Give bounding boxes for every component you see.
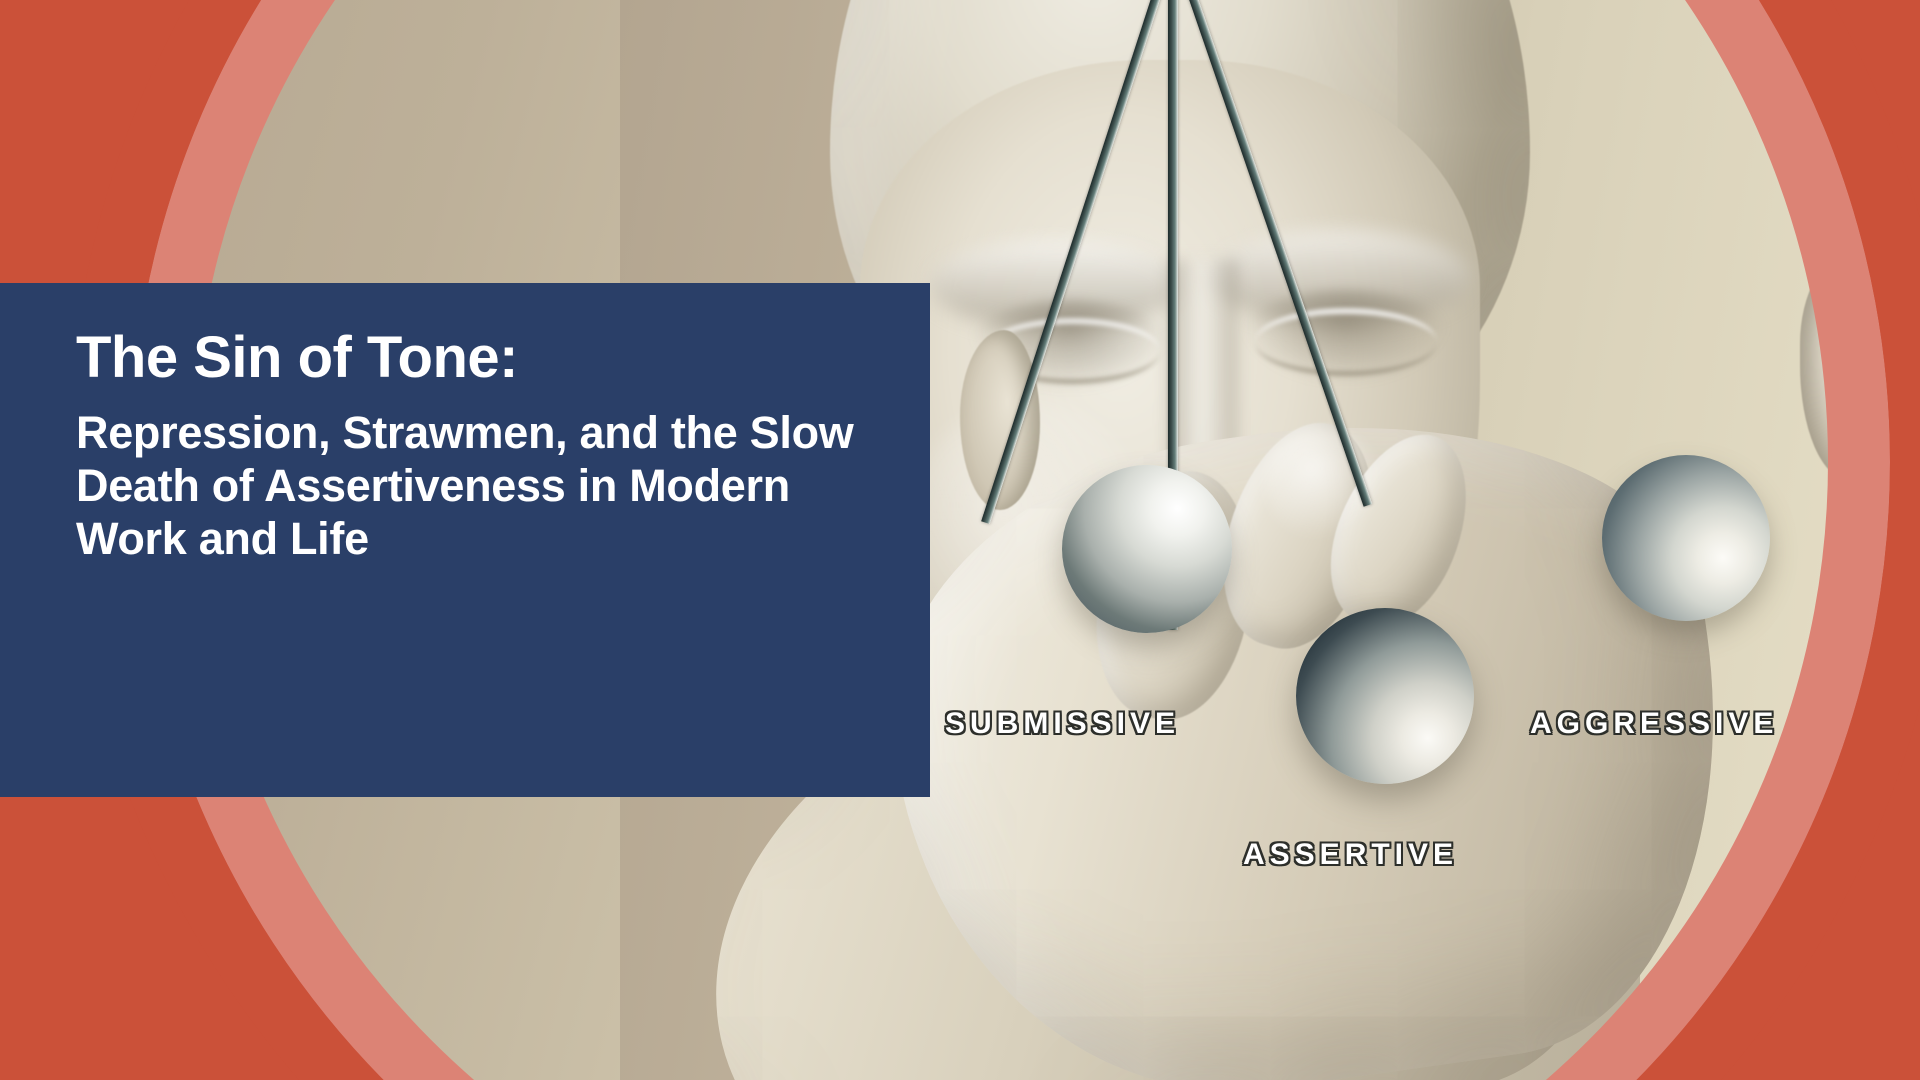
page-title: The Sin of Tone: [76, 327, 876, 390]
pendulum-label-aggressive: AGGRESSIVE [1530, 707, 1778, 741]
hero-banner: The Sin of Tone: Repression, Strawmen, a… [0, 0, 1920, 1080]
page-subtitle: Repression, Strawmen, and the Slow Death… [76, 406, 876, 565]
title-card: The Sin of Tone: Repression, Strawmen, a… [0, 283, 930, 797]
pendulum-label-assertive: ASSERTIVE [1243, 838, 1458, 872]
pendulum-label-submissive: SUBMISSIVE [945, 707, 1180, 741]
